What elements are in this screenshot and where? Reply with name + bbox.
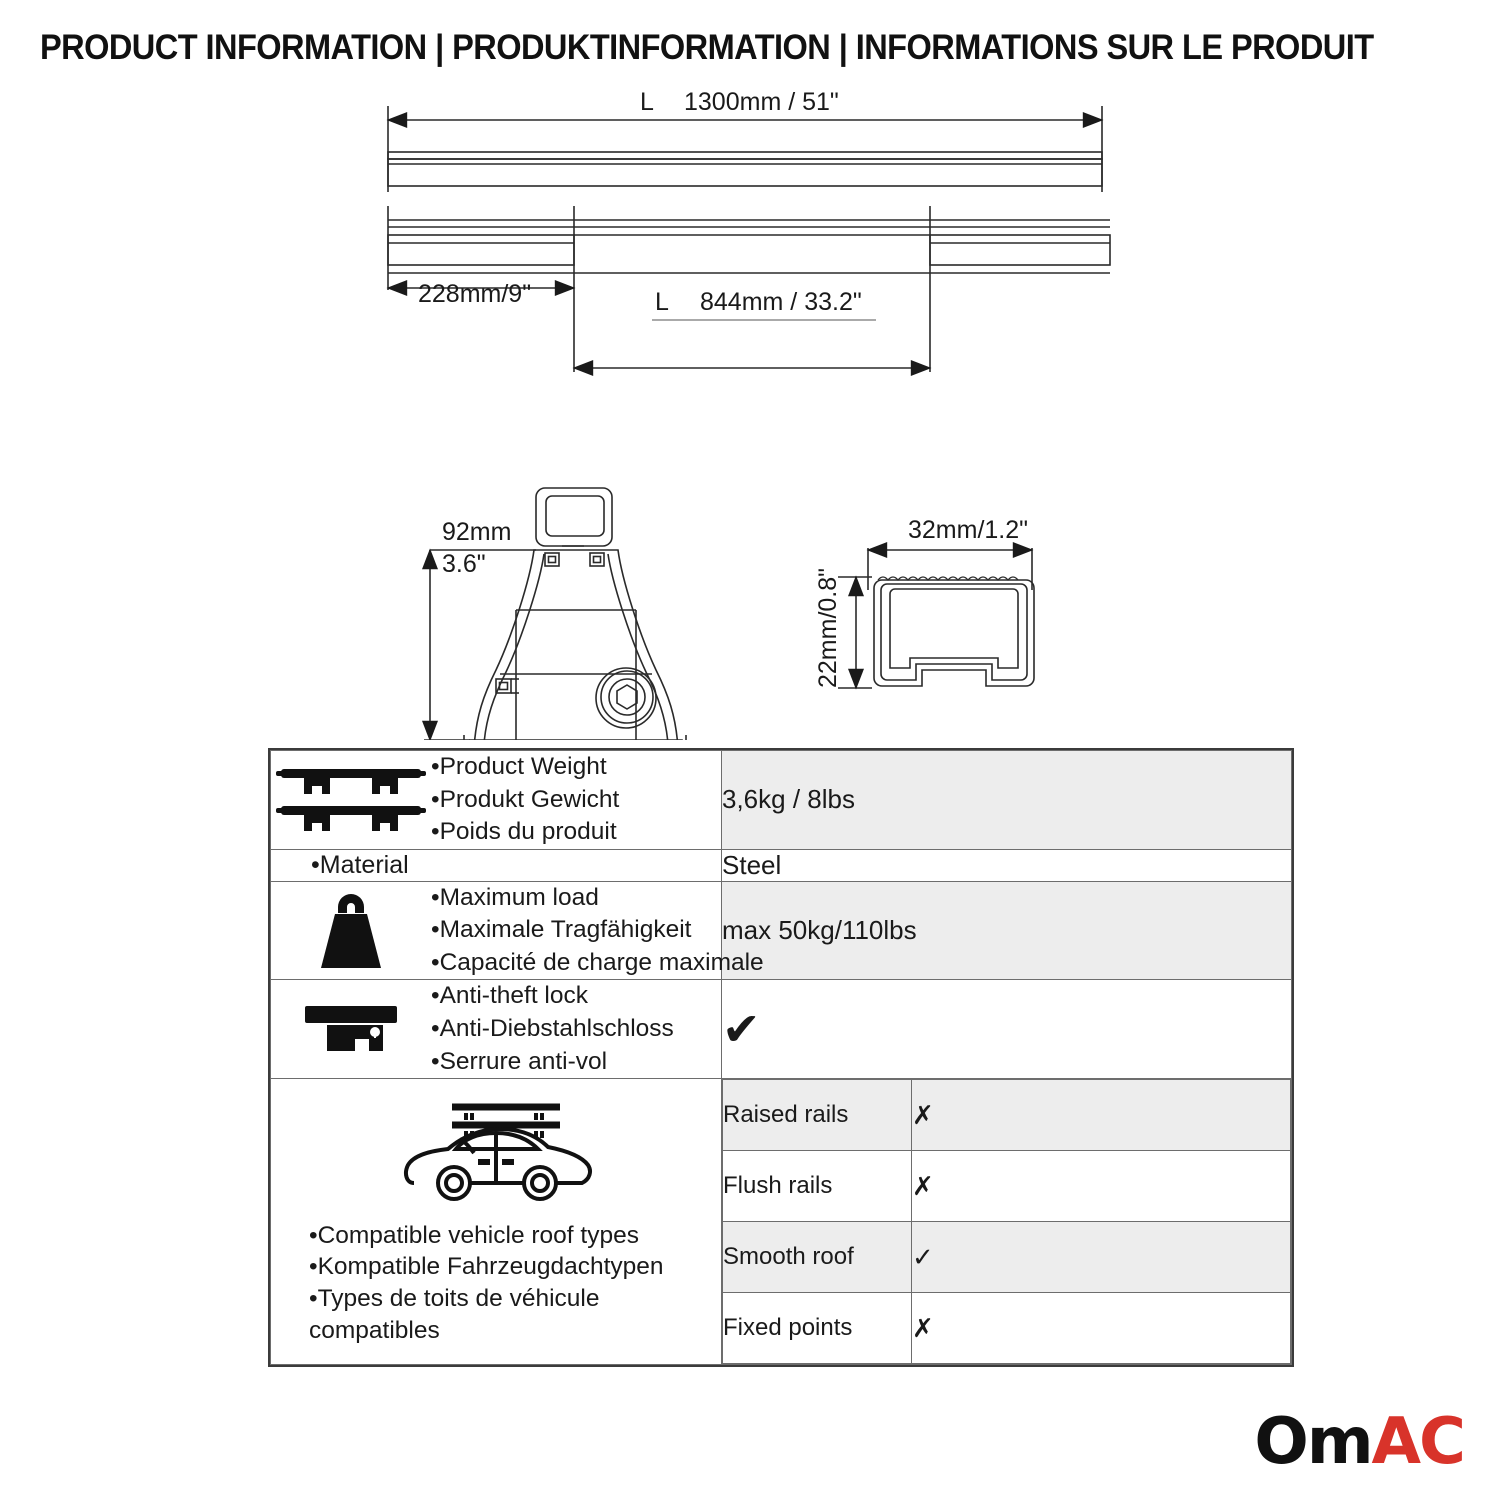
omac-logo-red-text: AC [1372, 1405, 1465, 1479]
dim-label-spread: 844mm / 33.2" [700, 288, 862, 316]
page-title: PRODUCT INFORMATION | PRODUKTINFORMATION… [40, 28, 1370, 68]
roof-type-row-raised-rails: Raised rails ✗ [723, 1080, 1291, 1151]
label-de-anti-theft-lock: •Anti-Diebstahlschloss [431, 1013, 721, 1046]
table-row-maximum-load: •Maximum load •Maximale Tragfähigkeit •C… [271, 881, 1292, 980]
label-fr-roof-types-cont: compatibles [309, 1315, 721, 1347]
roof-type-row-flush-rails: Flush rails ✗ [723, 1151, 1291, 1222]
label-en-maximum-load: •Maximum load [431, 882, 764, 915]
omac-logo-dark-text: Om [1254, 1405, 1371, 1479]
value-anti-theft-lock: ✔ [722, 980, 1292, 1079]
car-with-roof-bars-icon [396, 1097, 596, 1214]
label-fr-maximum-load: •Capacité de charge maximale [431, 947, 764, 980]
table-row-material: •Material Steel [271, 849, 1292, 881]
weight-icon [271, 890, 431, 972]
roof-type-name-smooth-roof: Smooth roof [723, 1222, 912, 1293]
label-texts-maximum-load: •Maximum load •Maximale Tragfähigkeit •C… [431, 882, 764, 980]
dim-label-profile-height: 22mm/0.8" [814, 568, 842, 688]
roof-type-mark-fixed-points: ✗ [912, 1293, 1291, 1364]
dim-label-foot-offset: 228mm/9" [418, 280, 531, 308]
roof-type-row-smooth-roof: Smooth roof ✓ [723, 1222, 1291, 1293]
dim-label-L-prefix-top: L [640, 88, 654, 116]
roof-type-mark-raised-rails: ✗ [912, 1080, 1291, 1151]
label-fr-roof-types: •Types de toits de véhicule [309, 1283, 721, 1315]
label-texts-roof-types: •Compatible vehicle roof types •Kompatib… [271, 1220, 721, 1347]
dim-label-profile-width: 32mm/1.2" [908, 516, 1028, 544]
roof-type-name-raised-rails: Raised rails [723, 1080, 912, 1151]
omac-logo: OmAC [1254, 1410, 1464, 1474]
table-row-anti-theft-lock: •Anti-theft lock •Anti-Diebstahlschloss … [271, 980, 1292, 1079]
label-en-product-weight: •Product Weight [431, 751, 721, 784]
value-material: Steel [722, 849, 1292, 881]
cross-icon: ✗ [912, 1314, 934, 1344]
product-spec-table: •Product Weight •Produkt Gewicht •Poids … [268, 748, 1294, 1367]
roof-type-name-fixed-points: Fixed points [723, 1293, 912, 1364]
technical-drawing: L 1300mm / 51" 228mm/9" L 844mm / 33.2" … [0, 80, 1500, 740]
cross-icon: ✗ [912, 1172, 934, 1202]
dim-label-length-top: 1300mm / 51" [684, 88, 839, 116]
label-cell-roof-types: •Compatible vehicle roof types •Kompatib… [271, 1079, 722, 1365]
crossbars-pair-icon [271, 761, 431, 839]
roof-type-row-fixed-points: Fixed points ✗ [723, 1293, 1291, 1364]
label-de-roof-types: •Kompatible Fahrzeugdachtypen [309, 1251, 721, 1283]
label-texts-anti-theft-lock: •Anti-theft lock •Anti-Diebstahlschloss … [431, 980, 721, 1078]
checkmark-icon: ✓ [912, 1243, 934, 1273]
label-fr-product-weight: •Poids du produit [431, 816, 721, 849]
label-cell-anti-theft-lock: •Anti-theft lock •Anti-Diebstahlschloss … [271, 980, 722, 1079]
anti-theft-lock-icon [271, 998, 431, 1060]
table-row-roof-types: •Compatible vehicle roof types •Kompatib… [271, 1079, 1292, 1365]
label-cell-product-weight: •Product Weight •Produkt Gewicht •Poids … [271, 751, 722, 850]
label-texts-product-weight: •Product Weight •Produkt Gewicht •Poids … [431, 751, 721, 849]
table-row-product-weight: •Product Weight •Produkt Gewicht •Poids … [271, 751, 1292, 850]
roof-type-mark-flush-rails: ✗ [912, 1151, 1291, 1222]
roof-types-matrix: Raised rails ✗ Flush rails ✗ Smooth roof… [722, 1079, 1292, 1365]
value-maximum-load: max 50kg/110lbs [722, 881, 1292, 980]
label-de-product-weight: •Produkt Gewicht [431, 784, 721, 817]
dim-label-height-in: 3.6" [442, 550, 486, 578]
value-product-weight: 3,6kg / 8lbs [722, 751, 1292, 850]
label-en-material: •Material [271, 851, 721, 880]
cross-icon: ✗ [912, 1101, 934, 1131]
label-fr-anti-theft-lock: •Serrure anti-vol [431, 1046, 721, 1079]
label-en-anti-theft-lock: •Anti-theft lock [431, 980, 721, 1013]
label-cell-material: •Material [271, 849, 722, 881]
dim-label-height-mm: 92mm [442, 518, 511, 546]
label-en-roof-types: •Compatible vehicle roof types [309, 1220, 721, 1252]
roof-type-mark-smooth-roof: ✓ [912, 1222, 1291, 1293]
checkmark-icon: ✔ [722, 1002, 761, 1056]
roof-type-name-flush-rails: Flush rails [723, 1151, 912, 1222]
label-cell-maximum-load: •Maximum load •Maximale Tragfähigkeit •C… [271, 881, 722, 980]
label-de-maximum-load: •Maximale Tragfähigkeit [431, 914, 764, 947]
dim-label-L-prefix-spread: L [655, 288, 669, 316]
